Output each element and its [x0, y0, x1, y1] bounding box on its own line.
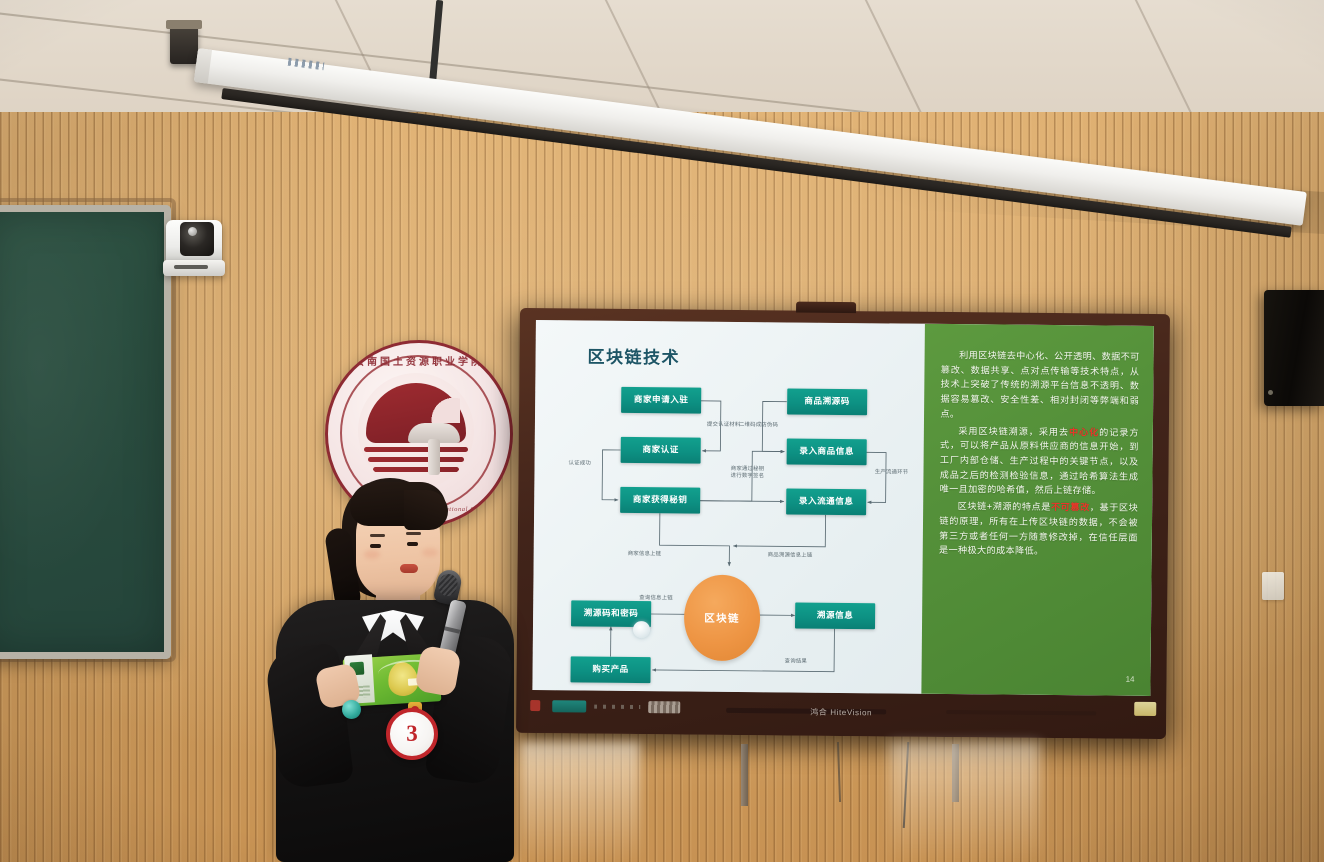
panel-energy-label	[1134, 702, 1156, 716]
panel-brand-label: 鸿合 HiteVision	[810, 707, 872, 719]
presenter-fringe-side	[404, 490, 448, 530]
p2-highlight: 中心化	[1069, 427, 1099, 437]
edge-label-key-signature: 商家通过秘钥进行数字签名	[730, 466, 764, 480]
paragraph-2: 采用区块链溯源，采用去中心化的记录方式，可以将产品从原料供应商的信息开始，到工厂…	[940, 424, 1139, 499]
presentation-slide: 区块链技术	[532, 320, 1154, 696]
diagram-node-trace-info[interactable]: 溯源信息	[795, 603, 875, 630]
edge-label-qr-antifake: 二维码成防伪码	[739, 422, 778, 429]
light-switch[interactable]	[1262, 572, 1284, 600]
presenter-lips	[400, 564, 418, 573]
panel-port-row[interactable]	[648, 701, 680, 713]
presenter-cheek-left	[364, 550, 380, 559]
display-stand-left	[741, 744, 748, 806]
p2-after: 的记录方式，可以将产品从原料供应商的信息开始，到工厂内部仓储、生产过程中的关键节…	[940, 427, 1139, 496]
light-reflection-left	[520, 742, 640, 862]
slide-body-text: 利用区块链去中心化、公开透明、数据不可篡改、数据共享、点对点传输等技术特点，从技…	[939, 348, 1140, 562]
panel-power-led	[530, 700, 540, 711]
speaker-led	[1268, 390, 1273, 395]
camera-indicator	[188, 227, 197, 236]
slide-left-panel: 区块链技术	[532, 320, 925, 694]
presenter-brow-right	[406, 532, 421, 535]
slide-title: 区块链技术	[587, 343, 680, 369]
ptz-camera	[166, 214, 222, 276]
edge-label-production-node: 生产流通环节	[874, 469, 908, 476]
p2-before: 采用区块链溯源，采用去	[958, 426, 1069, 437]
blockchain-flow-diagram: 商家申请入驻 商家认证 商家获得秘钥 商品溯源码 录入商品信息 录入流通信息 溯…	[532, 368, 924, 684]
screen-bracket	[170, 24, 198, 64]
decorative-dot	[633, 621, 650, 638]
screen-bracket-top	[166, 20, 202, 29]
slide-right-panel: 利用区块链去中心化、公开透明、数据不可篡改、数据共享、点对点传输等技术特点，从技…	[922, 324, 1154, 696]
diagram-node-enter-logistics[interactable]: 录入流通信息	[786, 488, 866, 515]
panel-control-buttons[interactable]	[552, 700, 586, 712]
presenter: 3	[258, 470, 526, 862]
camera-lens	[180, 222, 214, 256]
paragraph-1: 利用区块链去中心化、公开透明、数据不可篡改、数据共享、点对点传输等技术特点，从技…	[940, 348, 1139, 423]
diagram-node-merchant-verify[interactable]: 商家认证	[621, 437, 701, 464]
edge-label-verify-success: 认证成功	[569, 460, 591, 467]
diagram-node-merchant-apply[interactable]: 商家申请入驻	[621, 387, 701, 414]
chalkboard-surface	[0, 212, 164, 652]
p3-before: 区块链+溯源的特点是	[958, 501, 1051, 512]
light-reflection-right	[890, 742, 1040, 862]
presenter-brow-left	[370, 534, 385, 537]
paragraph-3: 区块链+溯源的特点是不可篡改，基于区块链的原理，所有在上传区块链的数据，不会被第…	[939, 499, 1138, 560]
camera-vent	[174, 265, 208, 269]
edge-label-query-on-chain: 查询信息上链	[639, 595, 673, 602]
presenter-cheek-right	[422, 548, 438, 557]
slide-page-number: 14	[1126, 675, 1135, 684]
presenter-badge-round	[342, 700, 361, 719]
panel-key-row[interactable]	[594, 705, 640, 709]
panel-vent-right	[946, 710, 1096, 715]
diagram-node-merchant-key[interactable]: 商家获得秘钥	[620, 487, 700, 514]
emblem-wave-2	[368, 457, 464, 462]
emblem-notch	[414, 383, 460, 423]
wall-speaker	[1264, 290, 1324, 406]
diagram-node-buy-product[interactable]: 购买产品	[570, 656, 650, 683]
diagram-node-enter-product[interactable]: 录入商品信息	[787, 438, 867, 465]
interactive-flat-panel[interactable]: 区块链技术	[516, 308, 1170, 739]
emblem-wave-1	[364, 447, 468, 452]
panel-camera-bar	[796, 302, 856, 314]
presenter-eye-right	[407, 542, 418, 546]
panel-screen[interactable]: 区块链技术	[532, 320, 1154, 696]
chalkboard	[0, 205, 171, 659]
edge-label-merchant-on-chain: 商家信息上链	[628, 551, 662, 558]
classroom-scene: 云南国土资源职业学院 1978 Yunnan Land and Resource…	[0, 0, 1324, 862]
emblem-name-cn: 云南国土资源职业学院	[328, 353, 510, 368]
contestant-number-badge: 3	[386, 708, 438, 760]
edge-label-query-result: 查询结果	[785, 658, 807, 665]
edge-label-submit-materials: 提交认证材料	[707, 422, 741, 429]
presenter-eye-left	[370, 544, 381, 548]
p3-highlight: 不可篡改	[1051, 502, 1090, 512]
edge-label-product-on-chain: 商品溯源信息上链	[768, 552, 813, 559]
diagram-node-product-code[interactable]: 商品溯源码	[787, 388, 867, 415]
diagram-hub-blockchain[interactable]: 区块链	[684, 574, 761, 661]
